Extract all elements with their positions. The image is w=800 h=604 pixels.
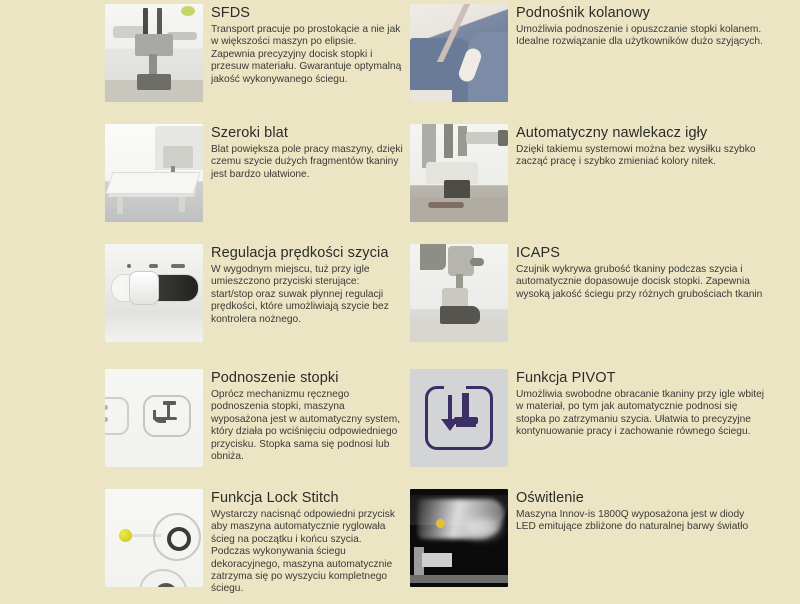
- feature-description: Blat powiększa pole pracy maszyny, dzięk…: [211, 144, 403, 181]
- knee-lifter-photo: [410, 4, 508, 102]
- presser-foot-button-photo: [105, 369, 203, 467]
- feature-description: Transport pracuje po prostokącie a nie j…: [211, 24, 403, 86]
- feature-title: SFDS: [211, 5, 403, 22]
- feature-card-icaps: ICAPS Czujnik wykrywa grubość tkaniny po…: [410, 244, 800, 369]
- pivot-function-icon: [410, 369, 508, 467]
- feature-card-sfds: SFDS Transport pracuje po prostokącie a …: [105, 4, 410, 124]
- feature-title: Funkcja Lock Stitch: [211, 490, 403, 507]
- feature-card-podnosnik-kolanowy: Podnośnik kolanowy Umożliwia podnoszenie…: [410, 4, 800, 124]
- needle-threader-photo: [410, 124, 508, 222]
- feature-card-automatyczny-nawlekacz-igly: Automatyczny nawlekacz igły Dzięki takie…: [410, 124, 800, 244]
- feature-card-funkcja-lock-stitch: Funkcja Lock Stitch Wystarczy nacisnąć o…: [105, 489, 410, 604]
- feature-card-szeroki-blat: Szeroki blat Blat powiększa pole pracy m…: [105, 124, 410, 244]
- feature-description: Czujnik wykrywa grubość tkaniny podczas …: [516, 264, 766, 301]
- feature-title: Podnośnik kolanowy: [516, 5, 766, 22]
- feature-card-oswitlenie: Oświtlenie Maszyna Innov-is 1800Q wyposa…: [410, 489, 800, 604]
- feature-card-podnoszenie-stopki: Podnoszenie stopki Oprócz mechanizmu ręc…: [105, 369, 410, 489]
- feature-title: Szeroki blat: [211, 125, 403, 142]
- feature-title: Regulacja prędkości szycia: [211, 245, 403, 262]
- feature-description: Dzięki takiemu systemowi można bez wysił…: [516, 144, 766, 169]
- feature-card-funkcja-pivot: Funkcja PIVOT Umożliwia swobodne obracan…: [410, 369, 800, 489]
- feature-title: Automatyczny nawlekacz igły: [516, 125, 766, 142]
- feature-title: ICAPS: [516, 245, 766, 262]
- feature-title: Funkcja PIVOT: [516, 370, 766, 387]
- feature-description: Maszyna Innov-is 1800Q wyposażona jest w…: [516, 509, 766, 534]
- speed-slider-photo: [105, 244, 203, 342]
- feature-card-regulacja-predkosci-szycia: Regulacja prędkości szycia W wygodnym mi…: [105, 244, 410, 369]
- feature-grid-page: SFDS Transport pracuje po prostokącie a …: [0, 0, 800, 600]
- needle-bar-feed-photo: [105, 4, 203, 102]
- feature-description: W wygodnym miejscu, tuż przy igle umiesz…: [211, 264, 403, 326]
- feature-title: Oświtlenie: [516, 490, 766, 507]
- feature-description: Wystarczy nacisnąć odpowiedni przycisk a…: [211, 509, 403, 596]
- led-lighting-photo: [410, 489, 508, 587]
- presser-foot-sensor-photo: [410, 244, 508, 342]
- features-grid: SFDS Transport pracuje po prostokącie a …: [0, 0, 800, 600]
- feature-title: Podnoszenie stopki: [211, 370, 403, 387]
- wide-table-photo: [105, 124, 203, 222]
- feature-description: Umożliwia podnoszenie i opuszczanie stop…: [516, 24, 766, 49]
- feature-description: Oprócz mechanizmu ręcznego podnoszenia s…: [211, 389, 403, 463]
- feature-description: Umożliwia swobodne obracanie tkaniny prz…: [516, 389, 766, 439]
- lock-stitch-button-photo: [105, 489, 203, 587]
